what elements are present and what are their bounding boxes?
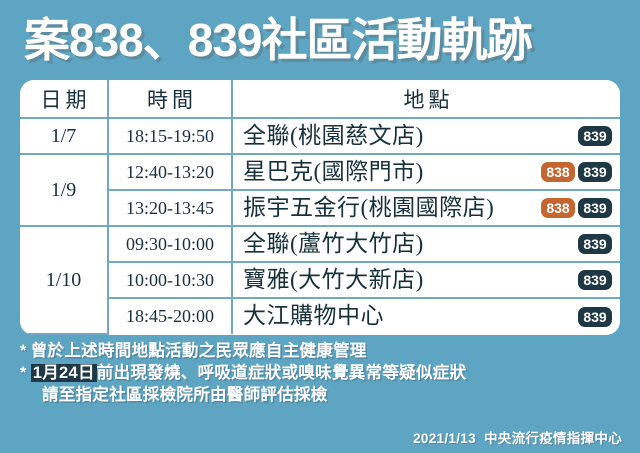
place-name: 全聯(蘆竹大竹店) <box>243 231 424 257</box>
note-highlight-date: 1月24日 <box>31 364 97 382</box>
community-trace-table: 日期 時間 地點 1/7 18:15-19:50 全聯(桃園慈文店) 839 <box>20 80 620 335</box>
cell-date: 1/9 <box>20 154 108 226</box>
footer-notes: *曾於上述時間地點活動之民眾應自主健康管理 *1月24日前出現發燒、呼吸道症狀或… <box>0 335 640 407</box>
status-badge: 839 <box>578 198 612 218</box>
badge-group: 839 <box>578 126 612 146</box>
badge-group: 839 <box>578 234 612 254</box>
note-text: 曾於上述時間地點活動之民眾應自主健康管理 <box>31 342 367 360</box>
cell-date: 1/10 <box>20 226 108 334</box>
cell-time: 10:00-10:30 <box>108 262 232 298</box>
note-line-3: 請至指定社區採檢院所由醫師評估採檢 <box>20 385 640 407</box>
cell-place: 全聯(蘆竹大竹店) 839 <box>232 226 620 262</box>
place-name: 全聯(桃園慈文店) <box>243 123 424 149</box>
table-header-row: 日期 時間 地點 <box>20 80 620 118</box>
cell-place: 寶雅(大竹大新店) 839 <box>232 262 620 298</box>
place-name: 寶雅(大竹大新店) <box>243 267 424 293</box>
title-bar: 案838、839社區活動軌跡 <box>0 0 640 80</box>
cell-time: 12:40-13:20 <box>108 154 232 190</box>
cell-place: 大江購物中心 839 <box>232 298 620 334</box>
table-row: 10:00-10:30 寶雅(大竹大新店) 839 <box>20 262 620 298</box>
note-line-2: *1月24日前出現發燒、呼吸道症狀或嗅味覺異常等疑似症狀 <box>20 363 640 385</box>
status-badge: 839 <box>578 234 612 254</box>
badge-group: 839 <box>578 307 612 327</box>
page-title: 案838、839社區活動軌跡 <box>24 17 532 63</box>
badge-group: 838 839 <box>541 162 612 182</box>
cell-time: 09:30-10:00 <box>108 226 232 262</box>
note-text: 請至指定社區採檢院所由醫師評估採檢 <box>42 386 328 404</box>
table-row: 18:45-20:00 大江購物中心 839 <box>20 298 620 334</box>
cell-time: 13:20-13:45 <box>108 190 232 226</box>
credit-agency: 中央流行疫情指揮中心 <box>484 431 622 446</box>
cell-time: 18:45-20:00 <box>108 298 232 334</box>
cell-place: 全聯(桃園慈文店) 839 <box>232 118 620 154</box>
place-name: 星巴克(國際門市) <box>243 159 424 185</box>
cell-place: 振宇五金行(桃園國際店) 838 839 <box>232 190 620 226</box>
status-badge: 838 <box>541 198 575 218</box>
note-text: 前出現發燒、呼吸道症狀或嗅味覺異常等疑似症狀 <box>97 364 467 382</box>
badge-group: 839 <box>578 270 612 290</box>
table-row: 1/10 09:30-10:00 全聯(蘆竹大竹店) 839 <box>20 226 620 262</box>
table-row: 1/9 12:40-13:20 星巴克(國際門市) 838 839 <box>20 154 620 190</box>
credit-date: 2021/1/13 <box>413 431 476 446</box>
status-badge: 839 <box>578 126 612 146</box>
status-badge: 839 <box>578 307 612 327</box>
status-badge: 839 <box>578 162 612 182</box>
cell-date: 1/7 <box>20 118 108 154</box>
credit-line: 2021/1/13 中央流行疫情指揮中心 <box>413 427 622 447</box>
place-name: 大江購物中心 <box>243 303 384 329</box>
note-bullet: * <box>20 342 27 360</box>
status-badge: 839 <box>578 270 612 290</box>
badge-group: 838 839 <box>541 198 612 218</box>
cell-place: 星巴克(國際門市) 838 839 <box>232 154 620 190</box>
status-badge: 838 <box>541 162 575 182</box>
column-header-time: 時間 <box>108 80 232 118</box>
table-row: 13:20-13:45 振宇五金行(桃園國際店) 838 839 <box>20 190 620 226</box>
place-name: 振宇五金行(桃園國際店) <box>243 195 494 221</box>
table-body: 1/7 18:15-19:50 全聯(桃園慈文店) 839 1/9 12:40-… <box>20 118 620 334</box>
note-bullet: * <box>20 364 27 382</box>
cell-time: 18:15-19:50 <box>108 118 232 154</box>
table-header: 日期 時間 地點 <box>20 80 620 118</box>
column-header-place: 地點 <box>232 80 620 118</box>
table-row: 1/7 18:15-19:50 全聯(桃園慈文店) 839 <box>20 118 620 154</box>
trace-table-container: 日期 時間 地點 1/7 18:15-19:50 全聯(桃園慈文店) 839 <box>20 80 620 335</box>
column-header-date: 日期 <box>20 80 108 118</box>
note-line-1: *曾於上述時間地點活動之民眾應自主健康管理 <box>20 341 640 363</box>
